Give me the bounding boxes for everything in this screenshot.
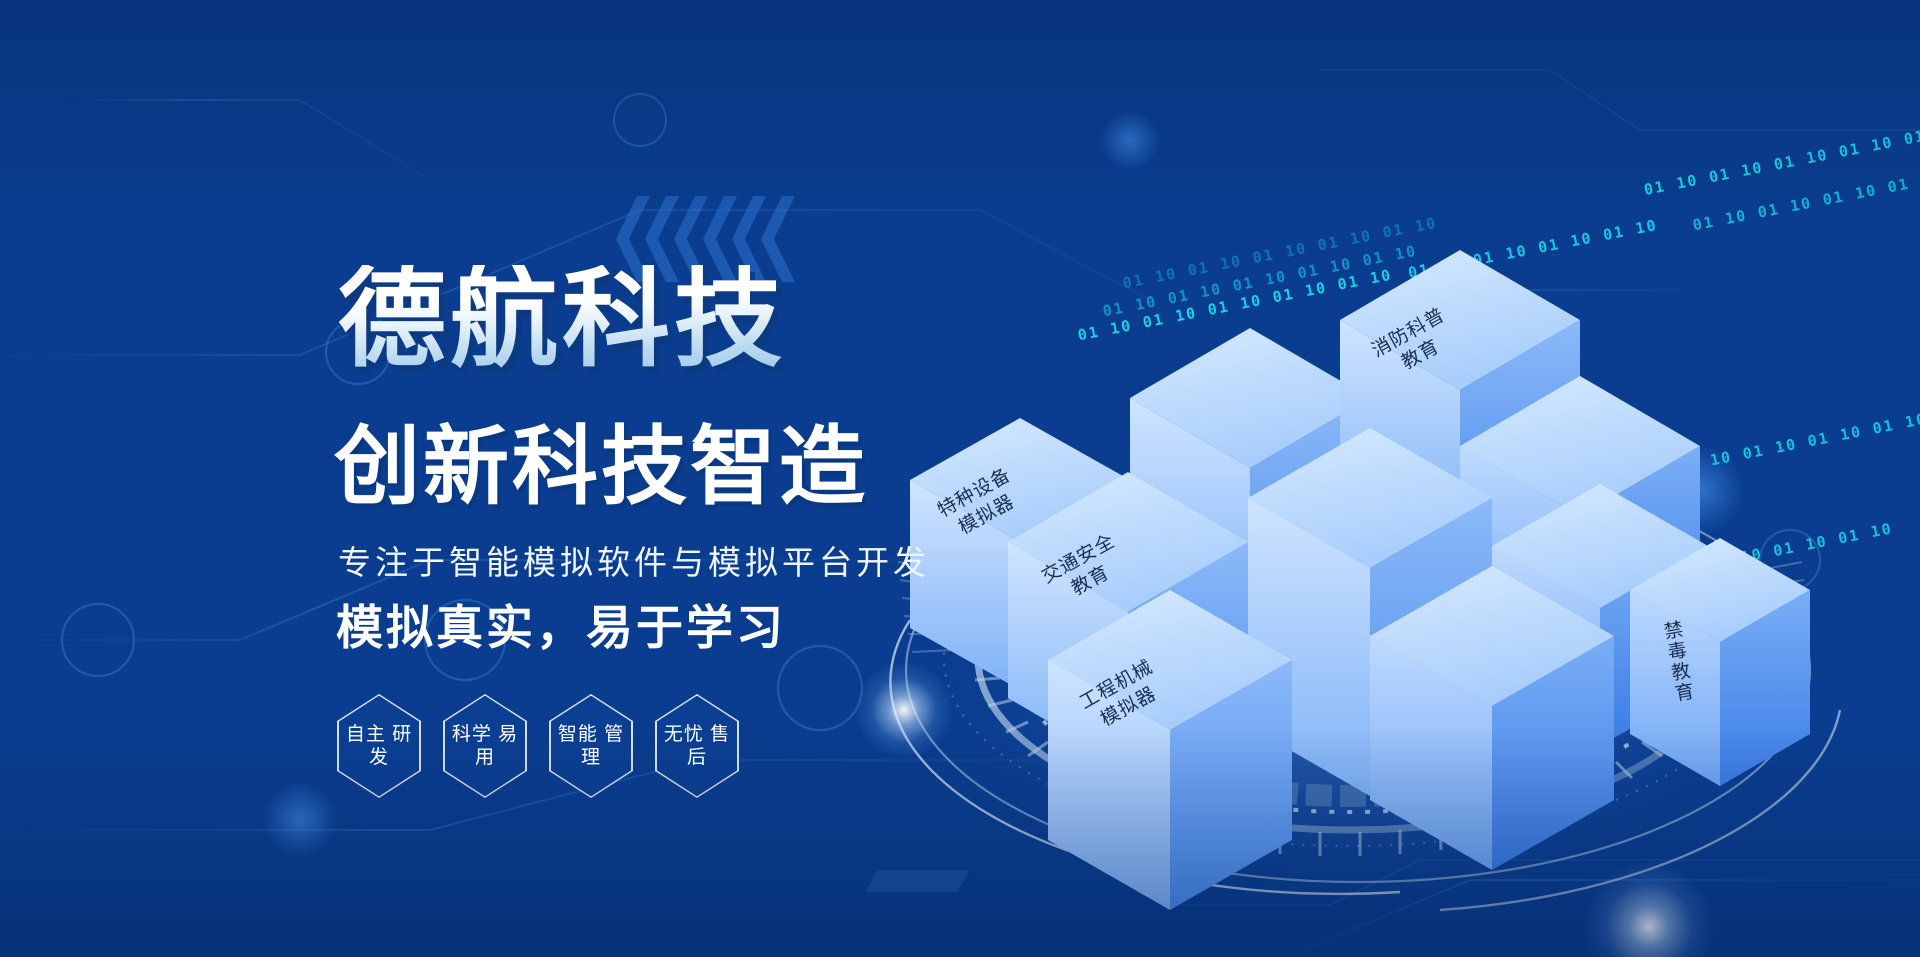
slogan: 模拟真实，易于学习 xyxy=(336,604,786,651)
headline: 创新科技智造 xyxy=(334,424,868,510)
feature-badge-label: 自主 研发 xyxy=(337,723,421,769)
hero-content: 德航科技 创新科技智造 专注于智能模拟软件与模拟平台开发 模拟真实，易于学习 自… xyxy=(0,0,1920,957)
feature-badge-label: 智能 管理 xyxy=(549,723,633,769)
feature-badge-self-research[interactable]: 自主 研发 xyxy=(337,694,421,798)
feature-badge-worryfree-service[interactable]: 无忧 售后 xyxy=(655,694,739,798)
tagline: 专注于智能模拟软件与模拟平台开发 xyxy=(338,546,930,579)
feature-badge-smart-management[interactable]: 智能 管理 xyxy=(549,694,633,798)
feature-badge-label: 无忧 售后 xyxy=(655,723,739,769)
feature-badge-scientific-easy[interactable]: 科学 易用 xyxy=(443,694,527,798)
feature-badge-label: 科学 易用 xyxy=(443,723,527,769)
brand-title: 德航科技 xyxy=(338,265,786,373)
hero-banner: 01 10 01 10 01 10 01 10 01 10 01 10 01 1… xyxy=(0,0,1920,957)
feature-badge-list: 自主 研发 科学 易用 智能 管理 无忧 售后 xyxy=(337,694,739,798)
